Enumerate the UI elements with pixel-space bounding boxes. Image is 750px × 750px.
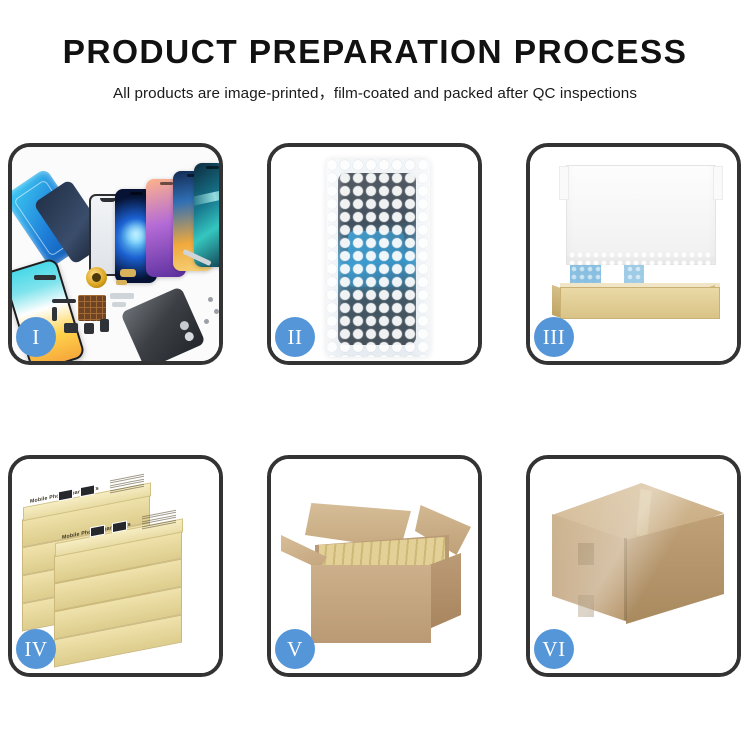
process-step-panel-6[interactable]: VI (526, 455, 741, 677)
spare-part (116, 280, 127, 285)
spare-part (84, 323, 94, 334)
process-step-panel-3[interactable]: III (526, 143, 741, 365)
spare-part (52, 299, 76, 303)
process-step-panel-5[interactable]: V (267, 455, 482, 677)
carton-patch (578, 595, 594, 617)
step-badge-2: II (275, 317, 315, 357)
process-step-grid: I II (8, 143, 742, 677)
carton-side-face (429, 553, 461, 629)
step-badge-3: III (534, 317, 574, 357)
page-subtitle: All products are image-printed，film-coat… (0, 72, 750, 103)
bubble-wrap-bag (326, 159, 430, 357)
process-step-panel-1[interactable]: I (8, 143, 223, 365)
screw-part (208, 297, 213, 302)
page-header: PRODUCT PREPARATION PROCESS All products… (0, 0, 750, 103)
spare-part (110, 293, 134, 299)
step-badge-4: IV (16, 629, 56, 669)
inner-box-front (560, 287, 720, 319)
spare-part (64, 323, 78, 333)
screw-part (204, 319, 209, 324)
spare-part (34, 275, 56, 280)
spare-part (100, 319, 109, 332)
inner-box-lid (566, 165, 716, 265)
step-badge-1: I (16, 317, 56, 357)
screw-part (214, 309, 219, 314)
process-step-panel-4[interactable]: Mobile Phone Spare Parts Mobile Phone Sp… (8, 455, 223, 677)
process-step-panel-2[interactable]: II (267, 143, 482, 365)
spare-part (112, 302, 126, 307)
carton-patch (578, 543, 594, 565)
page-title: PRODUCT PREPARATION PROCESS (0, 0, 750, 72)
step-badge-6: VI (534, 629, 574, 669)
phone-screen-teal (194, 163, 219, 267)
carton-front-face (311, 565, 431, 643)
speaker-coil-part (86, 267, 107, 288)
chip-array-part (78, 295, 106, 321)
spare-part (52, 307, 57, 321)
step-badge-5: V (275, 629, 315, 669)
spare-part (120, 269, 136, 277)
